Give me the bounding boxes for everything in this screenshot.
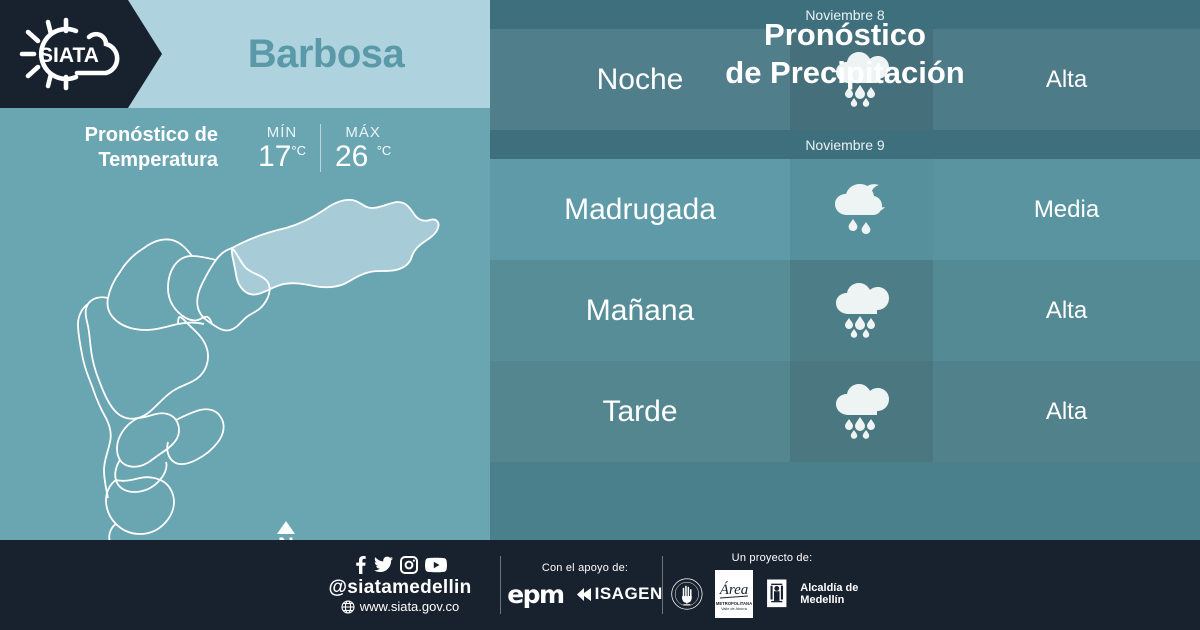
aburra-valley-map-svg [0,188,490,540]
period-label: Mañana [490,260,790,361]
temperature-max-unit: °C [377,143,392,158]
precipitation-level: Alta [933,361,1200,462]
project-block: Un proyecto de: Área [672,540,872,630]
social-icons [354,556,447,574]
temperature-min: MÍN 17°C [244,124,320,173]
city-title: Barbosa [162,0,490,108]
map-region-barbosa [232,200,439,295]
night-rain-cloud-icon [790,159,933,260]
temperature-title-line1: Pronóstico de [85,123,218,148]
map-region-la-estrella [106,477,174,534]
temperature-min-value: 17°C [258,141,306,173]
svg-text:Valle de Aburrá: Valle de Aburrá [721,607,748,611]
valley-map: N [0,188,490,540]
svg-text:Área: Área [718,581,748,598]
temperature-max: MÁX 26 °C [320,124,405,173]
svg-text:METROPOLITANA: METROPOLITANA [716,601,752,606]
forecast-row-tarde: Tarde Alta [490,361,1200,462]
social-block: @siatamedellin www.siata.gov.co [300,540,500,630]
left-panel: SIATA Barbosa Pronóstico de Temperatura … [0,0,490,540]
footer-divider-1 [500,556,501,614]
right-panel: Pronóstico de Precipitación Noviembre 8 … [490,0,1200,540]
date-band-nov9: Noviembre 9 [490,130,1200,159]
facebook-icon[interactable] [354,556,367,574]
epm-logo: epm [507,580,563,609]
alcaldia-label: Alcaldía de Medellín [800,582,873,606]
area-mark-icon: Área METROPOLITANA Valle de Aburrá [715,572,753,616]
precipitation-level: Media [933,159,1200,260]
map-region-medellin [86,297,208,419]
isagen-mark-icon [576,587,592,602]
precipitation-level: Alta [933,260,1200,361]
isagen-logo: ISAGEN [576,584,663,604]
youtube-icon[interactable] [425,557,447,573]
temperature-max-label: MÁX [345,124,381,141]
project-caption: Un proyecto de: [732,552,813,564]
temperature-title-line2: Temperatura [85,148,218,173]
sun-cloud-icon: SIATA [14,15,132,93]
left-header: SIATA Barbosa [0,0,490,108]
precipitation-title-line1: Pronóstico [764,16,926,54]
website-url: www.siata.gov.co [360,599,459,614]
support-logos: epm ISAGEN [507,580,663,609]
twitter-icon[interactable] [374,556,393,574]
map-region-caldas [109,524,116,540]
heavy-rain-cloud-icon [790,361,933,462]
area-metropolitana-logo: Área METROPOLITANA Valle de Aburrá [715,570,753,618]
map-region-bello [107,239,204,330]
temperature-min-unit: °C [291,143,306,158]
support-caption: Con el apoyo de: [542,562,628,574]
support-block: Con el apoyo de: epm ISAGEN [510,540,660,630]
alcaldia-medellin-crest-icon [765,571,789,617]
heavy-rain-cloud-icon [790,260,933,361]
precipitation-header: Pronóstico de Precipitación [490,0,1200,108]
footer: @siatamedellin www.siata.gov.co Con el a… [0,540,1200,630]
project-logos: Área METROPOLITANA Valle de Aburrá [671,570,873,618]
period-label: Tarde [490,361,790,462]
footer-divider-2 [662,556,663,614]
map-region-copacabana [168,256,216,324]
infographic-root: SIATA Barbosa Pronóstico de Temperatura … [0,0,1200,630]
forecast-row-madrugada: Madrugada Media [490,159,1200,260]
forecast-row-manana: Mañana Alta [490,260,1200,361]
map-outer-boundary [78,304,111,498]
universidad-de-medellin-seal-icon [671,571,703,617]
temperature-max-value: 26 °C [335,141,391,173]
social-handle[interactable]: @siatamedellin [328,577,471,599]
temperature-block: Pronóstico de Temperatura MÍN 17°C MÁX 2… [0,108,490,188]
precipitation-title-line2: de Precipitación [725,54,964,92]
map-region-sabaneta [115,460,166,492]
period-label: Madrugada [490,159,790,260]
instagram-icon[interactable] [400,556,418,574]
globe-icon [341,600,355,614]
siata-logo-badge: SIATA [0,0,162,108]
map-region-envigado [167,409,223,464]
isagen-wordmark: ISAGEN [595,584,663,604]
temperature-title: Pronóstico de Temperatura [85,123,218,173]
website-line[interactable]: www.siata.gov.co [341,599,459,614]
temperature-values: MÍN 17°C MÁX 26 °C [244,124,405,173]
svg-text:SIATA: SIATA [39,44,99,67]
temperature-min-label: MÍN [267,124,298,141]
